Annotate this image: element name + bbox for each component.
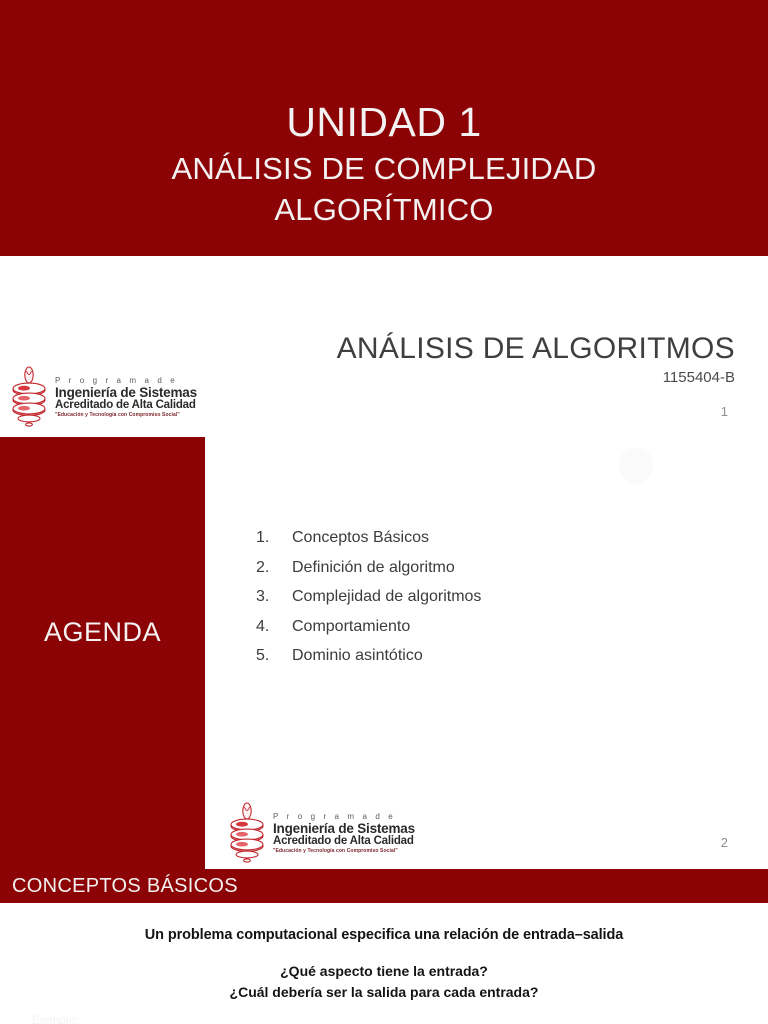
logo-text-block: P r o g r a m a d e Ingeniería de Sistem… xyxy=(55,377,197,418)
stacked-rings-logo-icon xyxy=(10,366,48,428)
agenda-item-number: 4. xyxy=(256,618,292,636)
content-lead-statement: Un problema computacional especifica una… xyxy=(0,927,768,943)
title-line-algoritmico: ALGORÍTMICO xyxy=(0,189,768,230)
institution-logo-cover: P r o g r a m a d e Ingeniería de Sistem… xyxy=(10,366,197,428)
title-text-block: UNIDAD 1 ANÁLISIS DE COMPLEJIDAD ALGORÍT… xyxy=(0,96,768,230)
logo-line-slogan: "Educación y Tecnología con Compromiso S… xyxy=(273,849,415,854)
logo-line-acreditado: Acreditado de Alta Calidad xyxy=(273,836,415,848)
agenda-item-label: Complejidad de algoritmos xyxy=(292,588,481,606)
agenda-list: 1. Conceptos Básicos 2. Definición de al… xyxy=(256,529,481,677)
logo-line-slogan: "Educación y Tecnología con Compromiso S… xyxy=(55,413,197,418)
agenda-item-5[interactable]: 5. Dominio asintótico xyxy=(256,647,481,677)
logo-line-acreditado: Acreditado de Alta Calidad xyxy=(55,400,197,412)
logo-line-programa: P r o g r a m a d e xyxy=(55,377,197,385)
institution-logo-agenda: P r o g r a m a d e Ingeniería de Sistem… xyxy=(228,802,415,864)
agenda-item-number: 5. xyxy=(256,647,292,665)
slide-number-2: 2 xyxy=(721,835,728,850)
agenda-item-label: Comportamiento xyxy=(292,618,410,636)
content-header-bar: CONCEPTOS BÁSICOS xyxy=(0,869,768,903)
logo-line-ingenieria: Ingeniería de Sistemas xyxy=(273,822,415,836)
agenda-item-label: Definición de algoritmo xyxy=(292,559,455,577)
title-line-unidad: UNIDAD 1 xyxy=(0,96,768,148)
agenda-item-3[interactable]: 3. Complejidad de algoritmos xyxy=(256,588,481,618)
agenda-item-number: 1. xyxy=(256,529,292,547)
agenda-item-label: Conceptos Básicos xyxy=(292,529,429,547)
title-line-analisis: ANÁLISIS DE COMPLEJIDAD xyxy=(0,148,768,189)
agenda-item-label: Dominio asintótico xyxy=(292,647,423,665)
stacked-rings-logo-icon xyxy=(228,802,266,864)
content-header-title: CONCEPTOS BÁSICOS xyxy=(12,875,238,898)
slide-number-1: 1 xyxy=(721,404,728,419)
agenda-red-panel: AGENDA xyxy=(0,437,205,869)
content-question-1: ¿Qué aspecto tiene la entrada? xyxy=(0,963,768,979)
logo-line-programa: P r o g r a m a d e xyxy=(273,813,415,821)
logo-line-ingenieria: Ingeniería de Sistemas xyxy=(55,386,197,400)
background-watermark-shape xyxy=(619,448,653,484)
agenda-item-1[interactable]: 1. Conceptos Básicos xyxy=(256,529,481,559)
logo-text-block: P r o g r a m a d e Ingeniería de Sistem… xyxy=(273,813,415,854)
course-code: 1155404-B xyxy=(663,369,735,387)
agenda-item-2[interactable]: 2. Definición de algoritmo xyxy=(256,559,481,589)
content-question-2: ¿Cuál debería ser la salida para cada en… xyxy=(0,984,768,1000)
cover-heading: ANÁLISIS DE ALGORITMOS xyxy=(337,332,735,366)
agenda-label: AGENDA xyxy=(0,617,205,648)
agenda-item-4[interactable]: 4. Comportamiento xyxy=(256,618,481,648)
slide-conceptos-basicos: CONCEPTOS BÁSICOS Un problema computacio… xyxy=(0,869,768,1024)
agenda-item-number: 3. xyxy=(256,588,292,606)
content-next-line-preview: Ejemplo: xyxy=(32,1013,79,1024)
slide-title: UNIDAD 1 ANÁLISIS DE COMPLEJIDAD ALGORÍT… xyxy=(0,0,768,256)
slide-document: UNIDAD 1 ANÁLISIS DE COMPLEJIDAD ALGORÍT… xyxy=(0,0,768,1024)
agenda-item-number: 2. xyxy=(256,559,292,577)
